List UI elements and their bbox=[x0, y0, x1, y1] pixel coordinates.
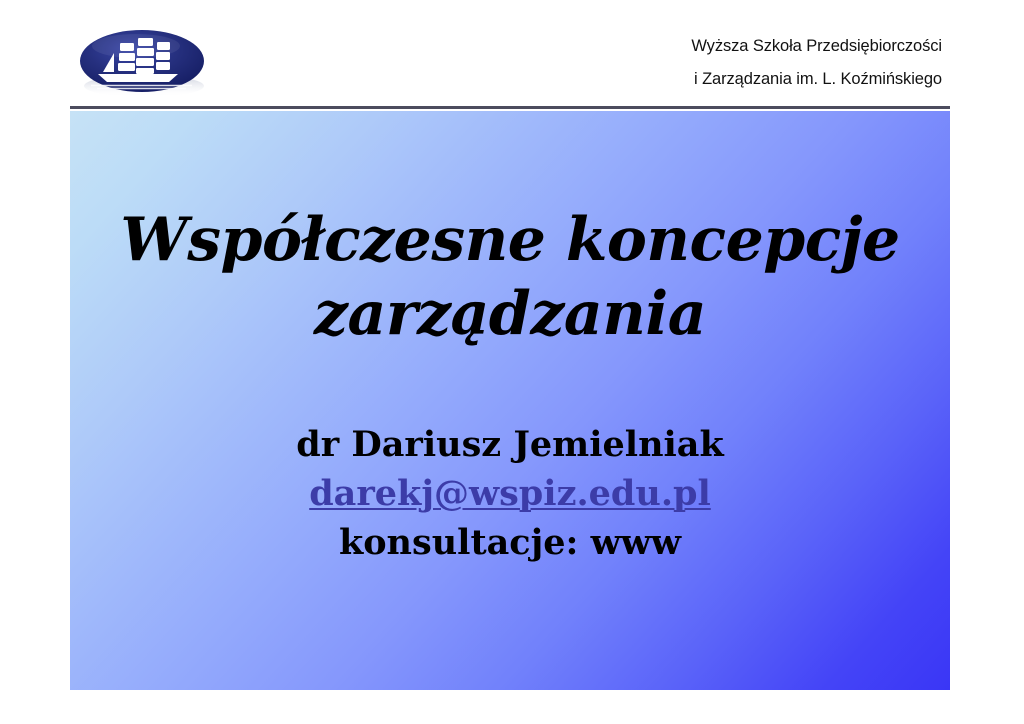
slide-title-line2: zarządzania bbox=[70, 277, 950, 351]
author-email-link[interactable]: darekj@wspiz.edu.pl bbox=[309, 469, 711, 519]
slide-content-panel: Współczesne koncepcje zarządzania dr Dar… bbox=[70, 111, 950, 690]
slide-title: Współczesne koncepcje zarządzania bbox=[70, 203, 950, 351]
author-name: dr Dariusz Jemielniak bbox=[70, 421, 950, 469]
author-email-row: darekj@wspiz.edu.pl bbox=[70, 469, 950, 519]
sailing-ship-logo-icon bbox=[74, 26, 212, 100]
slide-header: Wyższa Szkoła Przedsiębiorczości i Zarzą… bbox=[0, 0, 1024, 107]
presentation-slide: Wyższa Szkoła Przedsiębiorczości i Zarzą… bbox=[0, 0, 1024, 724]
slide-title-line1: Współczesne koncepcje bbox=[70, 203, 950, 277]
university-name-line1: Wyższa Szkoła Przedsiębiorczości bbox=[522, 30, 942, 63]
slide-author-block: dr Dariusz Jemielniak darekj@wspiz.edu.p… bbox=[70, 421, 950, 567]
consultations-note: konsultacje: www bbox=[70, 519, 950, 567]
header-divider bbox=[70, 106, 950, 109]
university-name: Wyższa Szkoła Przedsiębiorczości i Zarzą… bbox=[522, 30, 942, 96]
university-name-line2: i Zarządzania im. L. Koźmińskiego bbox=[522, 63, 942, 96]
